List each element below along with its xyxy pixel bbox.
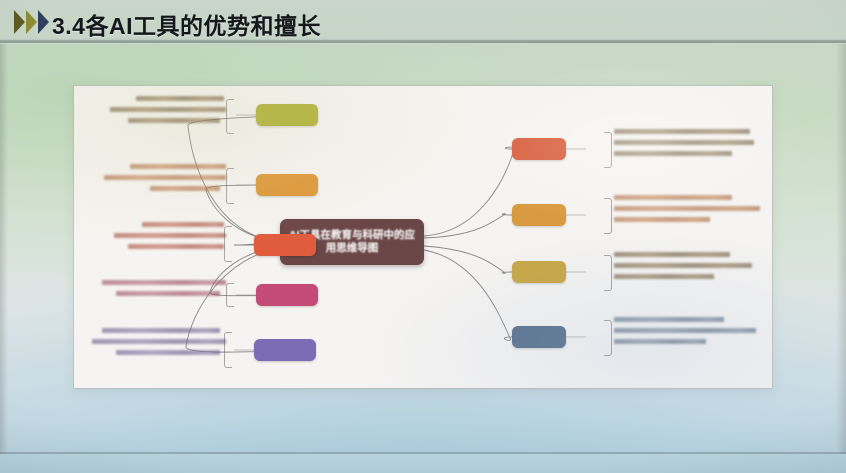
mindmap-leaf-left-3: [112, 222, 230, 255]
mindmap-leaf-right-3: [614, 252, 752, 285]
leaf-bracket-right-2: [604, 198, 612, 234]
leaf-bracket-left-4: [226, 283, 234, 307]
leaf-bracket-right-1: [604, 132, 612, 168]
leaf-bracket-left-5: [224, 332, 232, 368]
mindmap-canvas: AI工具在教育与科研中的应用思维导图: [74, 86, 772, 388]
mindmap-leaf-left-5: [90, 328, 228, 361]
mindmap-node-right-1[interactable]: [512, 138, 566, 160]
leaf-bracket-left-2: [226, 168, 234, 204]
desk-surface: [0, 454, 846, 473]
mindmap-node-left-1[interactable]: [256, 104, 318, 126]
mindmap-leaf-left-2: [102, 164, 228, 197]
mindmap-node-left-2[interactable]: [256, 174, 318, 196]
mindmap-leaf-left-1: [108, 96, 228, 129]
leaf-bracket-left-1: [226, 99, 234, 134]
triple-chevron-icon: [14, 10, 49, 34]
right-edge-shadow: [836, 44, 846, 473]
mindmap-node-right-4[interactable]: [512, 326, 566, 348]
mindmap-node-right-2[interactable]: [512, 204, 566, 226]
mindmap-leaf-right-2: [614, 195, 760, 228]
slide-header: 3.4各AI工具的优势和擅长: [0, 0, 846, 44]
leaf-bracket-right-3: [604, 255, 612, 291]
leaf-bracket-right-4: [604, 320, 612, 356]
mindmap-leaf-right-4: [614, 317, 756, 350]
mindmap-node-right-3[interactable]: [512, 261, 566, 283]
mindmap-leaf-right-1: [614, 129, 754, 162]
mindmap-leaf-left-4: [100, 280, 228, 302]
left-edge-shadow: [0, 44, 8, 473]
mindmap-node-left-4[interactable]: [256, 284, 318, 306]
mindmap-node-left-3[interactable]: [254, 234, 316, 256]
page-title: 3.4各AI工具的优势和擅长: [52, 7, 321, 41]
slide-photo: 3.4各AI工具的优势和擅长: [0, 0, 846, 473]
leaf-bracket-left-3: [224, 226, 232, 262]
header-divider: [0, 40, 846, 43]
mindmap-node-left-5[interactable]: [254, 339, 316, 361]
